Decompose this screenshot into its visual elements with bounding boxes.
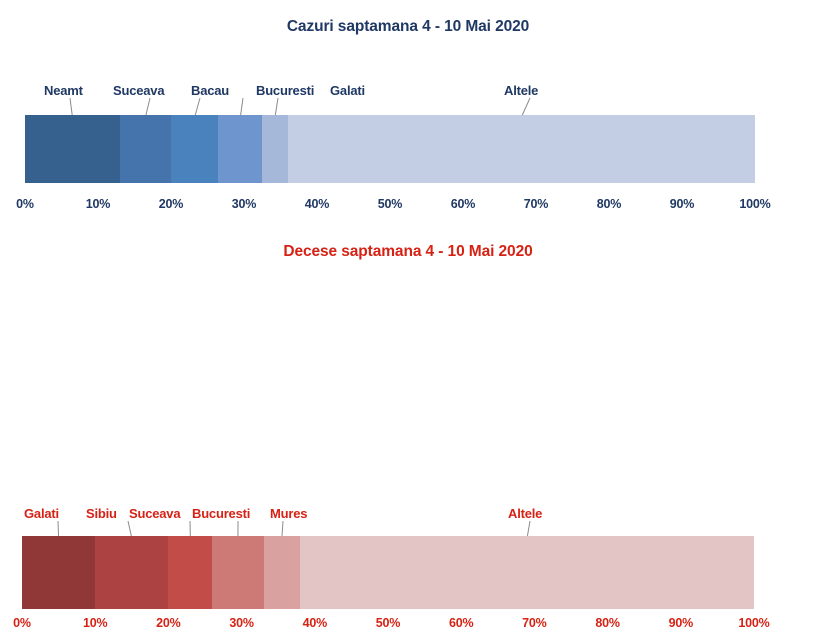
segment-label-suceava: Suceava [113,82,164,100]
segment-label-galati: Galati [24,505,59,523]
chart-deaths-stacked-bar [22,536,754,609]
bar-segment-galati [22,536,95,609]
segment-label-altele: Altele [508,505,542,523]
chart-cases-weekly: Cazuri saptamana 4 - 10 Mai 2020 NeamtSu… [0,0,816,222]
axis-tick-30pct: 30% [229,616,253,630]
axis-tick-60pct: 60% [451,197,475,211]
chart-cases-label-band: NeamtSuceavaBacauBucurestiGalatiAltele [0,82,816,104]
axis-tick-80pct: 80% [597,197,621,211]
axis-tick-100pct: 100% [738,616,769,630]
axis-tick-80pct: 80% [595,616,619,630]
axis-tick-10pct: 10% [83,616,107,630]
axis-tick-10pct: 10% [86,197,110,211]
segment-label-neamt: Neamt [44,82,83,100]
segment-label-bacau: Bacau [191,82,229,100]
axis-tick-0pct: 0% [16,197,34,211]
bar-segment-altele [300,536,754,609]
axis-tick-40pct: 40% [303,616,327,630]
segment-label-bucuresti: Bucuresti [256,82,314,100]
axis-tick-90pct: 90% [670,197,694,211]
axis-tick-20pct: 20% [156,616,180,630]
bar-segment-bucuresti [212,536,263,609]
bar-segment-mures [264,536,301,609]
segment-label-galati: Galati [330,82,365,100]
axis-tick-100pct: 100% [739,197,770,211]
bar-segment-sibiu [95,536,168,609]
chart-cases-axis: 0%10%20%30%40%50%60%70%80%90%100% [25,197,755,215]
segment-label-mures: Mures [270,505,307,523]
bar-segment-bucuresti [218,115,262,183]
chart-cases-stacked-bar [25,115,755,183]
bar-segment-neamt [25,115,120,183]
chart-cases-title: Cazuri saptamana 4 - 10 Mai 2020 [0,18,816,36]
axis-tick-90pct: 90% [669,616,693,630]
chart-deaths-axis: 0%10%20%30%40%50%60%70%80%90%100% [22,616,754,634]
segment-label-sibiu: Sibiu [86,505,117,523]
bar-segment-bacau [171,115,218,183]
chart-deaths-title: Decese saptamana 4 - 10 Mai 2020 [0,243,816,261]
chart-deaths-label-band: GalatiSibiuSuceavaBucurestiMuresAltele [0,505,816,527]
bar-segment-galati [262,115,288,183]
bar-segment-altele [288,115,755,183]
bar-segment-suceava [168,536,212,609]
axis-tick-50pct: 50% [378,197,402,211]
axis-tick-20pct: 20% [159,197,183,211]
axis-tick-0pct: 0% [13,616,31,630]
axis-tick-30pct: 30% [232,197,256,211]
axis-tick-70pct: 70% [524,197,548,211]
axis-tick-60pct: 60% [449,616,473,630]
bar-segment-suceava [120,115,171,183]
segment-label-altele: Altele [504,82,538,100]
chart-deaths-weekly: Decese saptamana 4 - 10 Mai 2020 GalatiS… [0,222,816,441]
axis-tick-50pct: 50% [376,616,400,630]
axis-tick-40pct: 40% [305,197,329,211]
axis-tick-70pct: 70% [522,616,546,630]
segment-label-bucuresti: Bucuresti [192,505,250,523]
segment-label-suceava: Suceava [129,505,180,523]
